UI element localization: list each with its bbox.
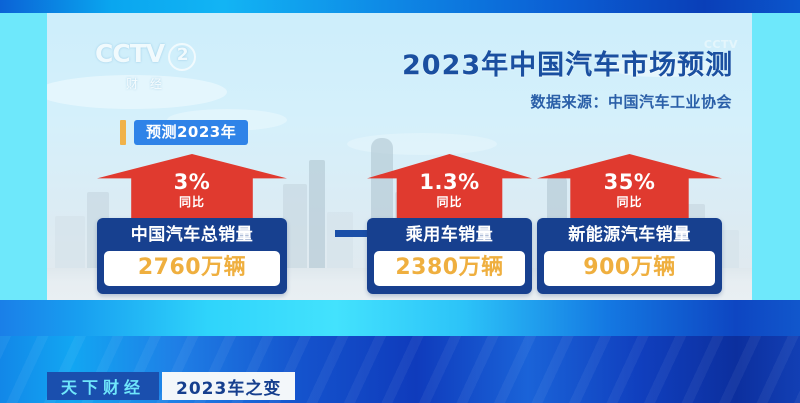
growth-yoy-label-2: 同比 — [367, 195, 532, 210]
metric-value-panel-1: 2760万辆 — [104, 251, 280, 286]
cyan-divider-band — [0, 300, 800, 336]
metric-box-3: 新能源汽车销量 900万辆 — [537, 218, 722, 294]
growth-yoy-label-3: 同比 — [537, 195, 722, 210]
metric-label-1: 中国汽车总销量 — [104, 224, 280, 246]
lower-third-bar: 天下财经 2023车之变 — [47, 372, 295, 400]
growth-arrow-3: 35% 同比 — [537, 154, 722, 218]
metric-column-1: 3% 同比 中国汽车总销量 2760万辆 — [97, 154, 287, 294]
data-source-note: 数据来源：中国汽车工业协会 — [402, 91, 732, 112]
metric-value-panel-2: 2380万辆 — [374, 251, 525, 286]
metric-label-3: 新能源汽车销量 — [544, 224, 715, 246]
metric-column-2: 1.3% 同比 乘用车销量 2380万辆 — [367, 154, 532, 294]
right-cyan-edge — [752, 13, 800, 300]
topic-title: 2023车之变 — [162, 372, 295, 400]
metric-value-1: 2760万辆 — [106, 255, 278, 281]
metric-value-2: 2380万辆 — [376, 255, 523, 281]
metric-value-3: 900万辆 — [546, 255, 713, 281]
growth-arrow-2: 1.3% 同比 — [367, 154, 532, 218]
page-title: 2023年中国汽车市场预测 — [402, 43, 732, 82]
growth-percent-1: 3% — [97, 171, 287, 194]
growth-percent-3: 35% — [537, 171, 722, 194]
top-accent-strip — [0, 0, 800, 13]
metric-value-panel-3: 900万辆 — [544, 251, 715, 286]
growth-arrow-1: 3% 同比 — [97, 154, 287, 218]
broadcast-screenshot: CCTV2 财经 CCTV 2023年中国汽车市场预测 数据来源：中国汽车工业协… — [0, 0, 800, 403]
metric-column-3: 35% 同比 新能源汽车销量 900万辆 — [537, 154, 722, 294]
headline-block: 2023年中国汽车市场预测 数据来源：中国汽车工业协会 — [402, 43, 732, 112]
cctv-channel-number: 2 — [168, 43, 196, 71]
left-cyan-edge — [0, 13, 47, 300]
program-name: 天下财经 — [47, 372, 159, 400]
cctv-logo-text: CCTV — [95, 39, 164, 68]
tag-accent-bar — [120, 120, 126, 145]
metric-label-2: 乘用车销量 — [374, 224, 525, 246]
forecast-tag-label: 预测2023年 — [134, 120, 248, 145]
metric-box-1: 中国汽车总销量 2760万辆 — [97, 218, 287, 294]
graphic-panel: CCTV2 财经 CCTV 2023年中国汽车市场预测 数据来源：中国汽车工业协… — [47, 13, 752, 300]
metric-box-2: 乘用车销量 2380万辆 — [367, 218, 532, 294]
growth-percent-2: 1.3% — [367, 171, 532, 194]
forecast-tag: 预测2023年 — [120, 120, 248, 145]
growth-yoy-label-1: 同比 — [97, 195, 287, 210]
